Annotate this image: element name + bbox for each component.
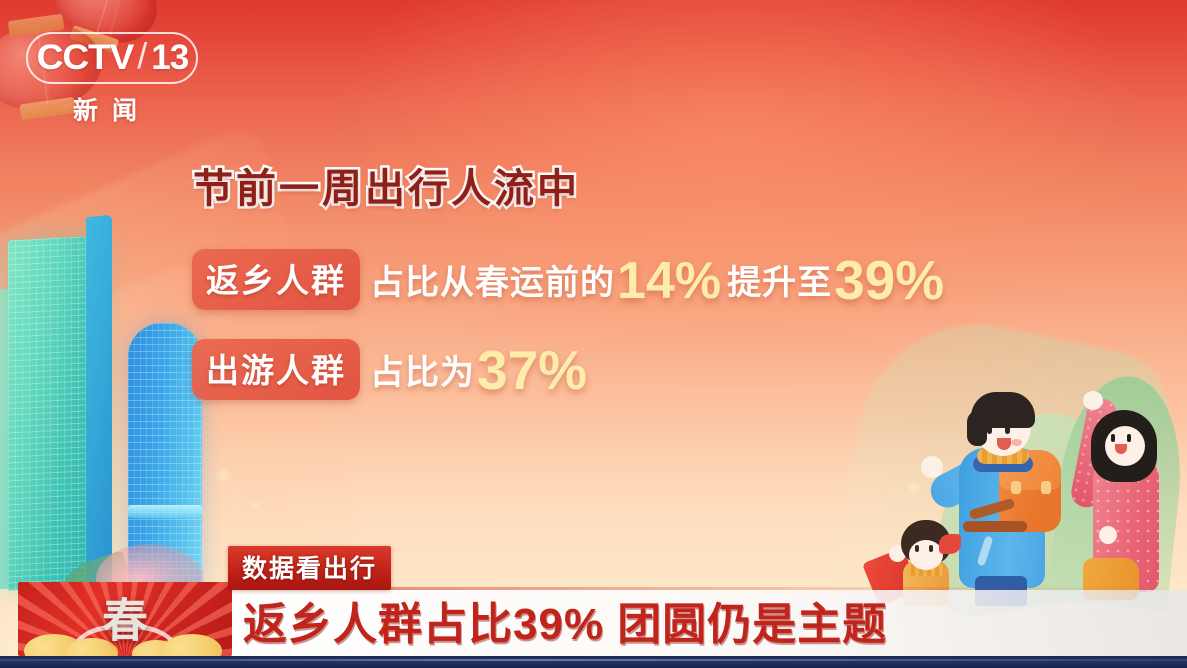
stat-text-before-returning: 占比从春运前的 — [370, 255, 615, 304]
channel-logo: CCTV / 13 新闻 — [26, 32, 216, 132]
chyron-headline: 返乡人群占比39% 团圆仍是主题 — [243, 588, 887, 652]
channel-logo-number: 13 — [151, 38, 188, 78]
chyron-kicker-tag: 数据看出行 — [228, 546, 391, 590]
stat-tag-travel: 出游人群 — [192, 339, 360, 400]
channel-logo-text: CCTV — [26, 38, 133, 78]
stat-value-from-returning: 14% — [617, 255, 721, 307]
graphic-headline: 节前一周出行人流中 — [193, 156, 580, 214]
stat-value-travel: 37% — [477, 343, 587, 398]
stat-tag-returning: 返乡人群 — [192, 249, 360, 310]
stat-row-travel: 出游人群 占比为 37% — [192, 339, 589, 400]
broadcast-screen: CCTV / 13 新闻 — [0, 0, 1187, 668]
channel-logo-subtitle: 新闻 — [26, 91, 198, 127]
decoration-spring-character: 春 — [102, 585, 148, 651]
stat-text-before-travel: 占比为 — [370, 345, 475, 394]
stat-row-returning: 返乡人群 占比从春运前的 14% 提升至 39% — [192, 249, 946, 310]
stat-value-to-returning: 39% — [834, 253, 944, 308]
stat-text-middle-returning: 提升至 — [727, 255, 832, 304]
channel-logo-separator: / — [137, 35, 147, 77]
channel-logo-box: CCTV / 13 — [26, 32, 198, 84]
chyron-baseline-strip — [0, 656, 1187, 668]
lower-third: 春 数据看出行 返乡人群占比39% 团圆仍是主题 — [0, 556, 1187, 668]
spring-festival-decoration: 春 — [18, 582, 232, 656]
